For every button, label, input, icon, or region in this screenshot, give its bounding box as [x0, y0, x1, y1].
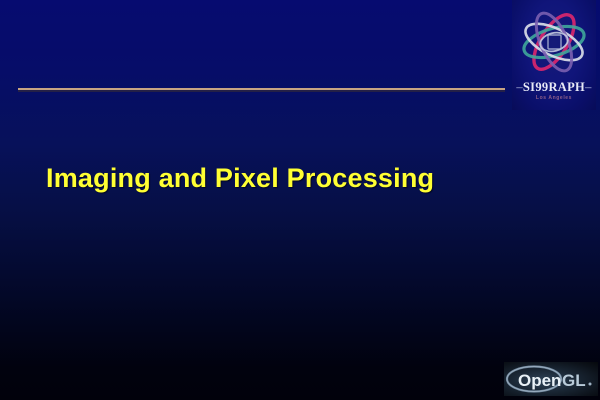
opengl-logo-icon: Open GL — [504, 362, 598, 396]
opengl-logo: Open GL — [504, 362, 598, 396]
wordmark-text: SI99RAPH — [523, 80, 585, 94]
siggraph-city-label: Los Angeles — [512, 95, 596, 101]
slide-canvas: Imaging and Pixel Processing –SI99RAPH– … — [0, 0, 600, 400]
opengl-trademark-dot — [589, 383, 592, 386]
wordmark-right-dash: – — [585, 80, 592, 94]
siggraph-logo: –SI99RAPH– Los Angeles — [512, 0, 596, 110]
opengl-text-gl: GL — [562, 371, 586, 390]
siggraph-rings-icon — [512, 4, 596, 80]
siggraph-wordmark: –SI99RAPH– — [512, 80, 596, 95]
divider-rule-shadow — [18, 90, 505, 92]
opengl-text-open: Open — [518, 371, 561, 390]
page-title: Imaging and Pixel Processing — [46, 163, 434, 194]
